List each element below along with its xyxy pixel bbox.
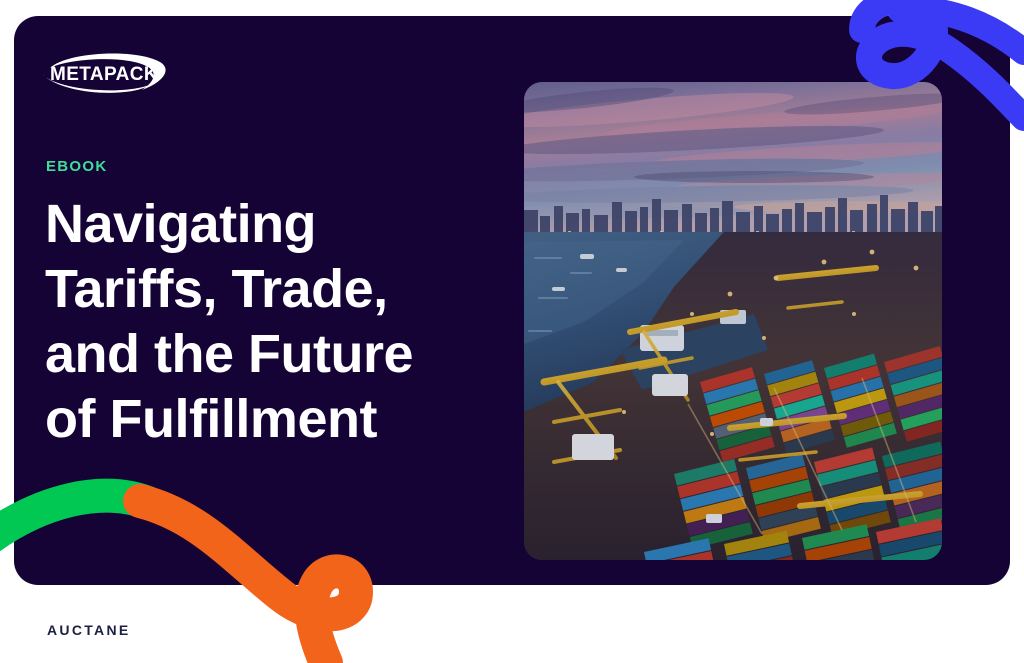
title-line-2: Tariffs, Trade, xyxy=(45,257,485,322)
eyebrow-label: EBOOK xyxy=(46,158,108,175)
ebook-cover: METAPACK EBOOK Navigating Tariffs, Trade… xyxy=(0,0,1024,663)
title-line-3: and the Future xyxy=(45,322,485,387)
auctane-footer-brand: AUCTANE xyxy=(47,622,131,638)
title-line-1: Navigating xyxy=(45,192,485,257)
page-title: Navigating Tariffs, Trade, and the Futur… xyxy=(45,192,485,452)
metapack-logo: METAPACK xyxy=(36,44,176,102)
title-line-4: of Fulfillment xyxy=(45,387,485,452)
container-port-at-dusk-image xyxy=(524,82,942,560)
metapack-wordmark: METAPACK xyxy=(50,64,158,85)
